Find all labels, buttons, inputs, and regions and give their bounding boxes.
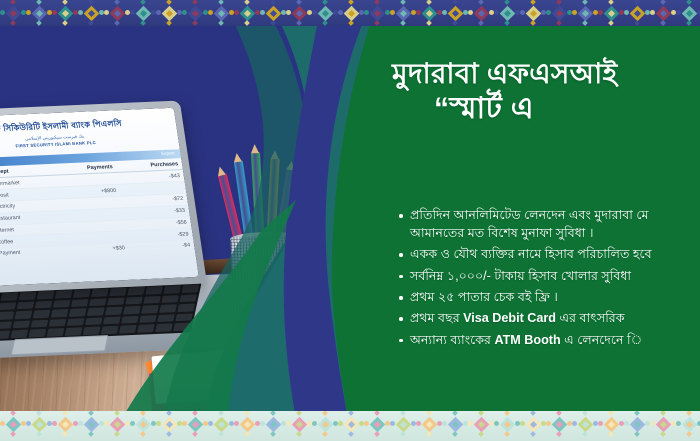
ornament-tile (208, 0, 234, 26)
ornament-tile (650, 0, 676, 26)
ornament-motif (650, 421, 655, 426)
promotional-banner: ফার্স্ট সিকিউরিটি ইসলামী ব্যাংক পিএলসি ب… (0, 0, 700, 441)
ornament-tile (26, 0, 52, 26)
ornament-motif (504, 20, 510, 26)
ornament-motif (234, 421, 239, 426)
ornament-motif (634, 431, 640, 437)
ornament-motif (10, 0, 16, 5)
ornament-motif (244, 411, 250, 416)
ornament-motif (208, 10, 213, 15)
ornament-motif (530, 431, 536, 437)
ornament-motif (286, 10, 291, 15)
ornament-motif (374, 411, 380, 416)
ornament-tile (468, 0, 494, 26)
ornament-tile (494, 0, 520, 26)
ornament-tile (416, 0, 442, 26)
ornament-motif (62, 431, 68, 437)
bullet-visa-debit-card: প্রথম বছর Visa Debit Card এর বাৎসরিক (410, 310, 700, 328)
ornament-tile (78, 411, 104, 441)
ornament-tile (624, 411, 650, 441)
ornament-motif (556, 411, 562, 416)
ornament-motif (192, 431, 198, 437)
ornament-motif (114, 20, 120, 26)
ornament-tile (442, 0, 468, 26)
ornament-motif (452, 20, 458, 26)
ornament-motif (546, 421, 551, 426)
bullet-minimum-deposit: সর্বনিম্ন ১,০০০/- টাকায় হিসাব খোলার সুব… (410, 268, 700, 286)
ornament-motif (598, 421, 603, 426)
ornament-motif (156, 10, 161, 15)
ornament-motif (504, 431, 510, 437)
ornament-motif (634, 411, 640, 416)
ornament-motif (244, 0, 250, 5)
ornament-tile (390, 411, 416, 441)
ornament-motif (62, 20, 68, 26)
ornament-motif (114, 431, 120, 437)
ornament-motif (140, 0, 146, 5)
ornament-motif (452, 431, 458, 437)
ornament-motif (218, 431, 224, 437)
ornament-motif (416, 421, 421, 426)
ornament-tile (130, 0, 156, 26)
ornament-tile (442, 411, 468, 441)
ornament-motif (182, 10, 187, 15)
ornament-band-top (0, 0, 700, 26)
ornament-motif (400, 0, 406, 5)
ornament-tile (676, 0, 700, 26)
ornament-motif (296, 0, 302, 5)
ornament-motif (322, 411, 328, 416)
ornament-motif (62, 411, 68, 416)
ornament-motif (296, 411, 302, 416)
ornament-motif (156, 421, 161, 426)
ornament-motif (78, 421, 83, 426)
ornament-tile (52, 0, 78, 26)
ornament-tile (416, 411, 442, 441)
ornament-motif (478, 20, 484, 26)
ornament-motif (582, 0, 588, 5)
ornament-motif (10, 411, 16, 416)
ornament-tile (260, 0, 286, 26)
ornament-motif (598, 10, 603, 15)
ornament-tile (182, 0, 208, 26)
ornament-motif (676, 421, 681, 426)
ornament-motif (556, 0, 562, 5)
ornament-motif (374, 20, 380, 26)
ornament-motif (348, 411, 354, 416)
ornament-motif (608, 0, 614, 5)
ornament-motif (416, 10, 421, 15)
ornament-tile (364, 0, 390, 26)
ornament-motif (26, 421, 31, 426)
ornament-motif (244, 20, 250, 26)
ornament-motif (10, 431, 16, 437)
ornament-motif (608, 431, 614, 437)
ornament-motif (218, 411, 224, 416)
ornament-motif (624, 10, 629, 15)
ornament-motif (530, 411, 536, 416)
ornament-motif (114, 0, 120, 5)
ornament-motif (26, 10, 31, 15)
ornament-motif (260, 421, 265, 426)
ornament-motif (582, 20, 588, 26)
ornament-motif (338, 421, 343, 426)
ornament-motif (36, 411, 42, 416)
ornament-motif (0, 10, 5, 15)
bullet-unlimited-transaction: প্রতিদিন আনলিমিটেড লেনদেন এবং মুদারাবা ম… (410, 207, 700, 243)
ornament-motif (270, 431, 276, 437)
ornament-motif (348, 431, 354, 437)
ornament-band-bottom (0, 411, 700, 441)
ornament-tile (520, 411, 546, 441)
ornament-tile (26, 411, 52, 441)
ornament-tile (598, 411, 624, 441)
ornament-tile (598, 0, 624, 26)
ornament-tile (390, 0, 416, 26)
headline-line-1: মুদারাবা এফএসআই (392, 56, 700, 91)
ornament-tile (468, 411, 494, 441)
ornament-motif (62, 0, 68, 5)
ornament-motif (338, 10, 343, 15)
ornament-tile (338, 0, 364, 26)
ornament-tile (650, 411, 676, 441)
ornament-motif (504, 0, 510, 5)
ornament-motif (390, 10, 395, 15)
ornament-motif (400, 431, 406, 437)
ornament-motif (478, 431, 484, 437)
ornament-motif (312, 421, 317, 426)
ornament-motif (52, 10, 57, 15)
ornament-tile (312, 0, 338, 26)
ornament-tile (286, 0, 312, 26)
ornament-motif (182, 421, 187, 426)
ornament-tile (156, 0, 182, 26)
bullet-other-bank-atm: অন্যান্য ব্যাংকের ATM Booth এ লেনদেনে ি (410, 332, 700, 350)
ornament-motif (452, 411, 458, 416)
ornament-motif (660, 20, 666, 26)
ornament-motif (374, 431, 380, 437)
ornament-motif (0, 421, 5, 426)
ornament-motif (686, 431, 692, 437)
ornament-tile (78, 0, 104, 26)
ornament-motif (88, 431, 94, 437)
ornament-motif (10, 20, 16, 26)
ornament-motif (634, 0, 640, 5)
ornament-motif (52, 421, 57, 426)
ornament-tile (286, 411, 312, 441)
ornament-motif (296, 431, 302, 437)
ornament-motif (130, 10, 135, 15)
ornament-tile (546, 0, 572, 26)
ornament-motif (114, 411, 120, 416)
ornament-motif (556, 431, 562, 437)
ornament-motif (286, 421, 291, 426)
ornament-motif (322, 431, 328, 437)
ornament-motif (608, 411, 614, 416)
ornament-motif (546, 10, 551, 15)
ornament-motif (468, 10, 473, 15)
ornament-tile (572, 411, 598, 441)
ornament-motif (166, 20, 172, 26)
ornament-motif (520, 421, 525, 426)
ornament-tile (130, 411, 156, 441)
ornament-motif (530, 0, 536, 5)
ornament-motif (364, 421, 369, 426)
ornament-motif (322, 0, 328, 5)
ornament-motif (572, 10, 577, 15)
ornament-tile (182, 411, 208, 441)
ornament-tile (572, 0, 598, 26)
ornament-motif (88, 0, 94, 5)
ornament-motif (166, 431, 172, 437)
ornament-tile (234, 0, 260, 26)
ornament-tile (312, 411, 338, 441)
ornament-motif (218, 20, 224, 26)
ornament-motif (234, 10, 239, 15)
ornament-motif (208, 421, 213, 426)
ornament-tile (104, 411, 130, 441)
ornament-motif (270, 20, 276, 26)
ornament-motif (494, 10, 499, 15)
ornament-motif (530, 20, 536, 26)
promo-content: মুদারাবা এফএসআই “স্মার্ট এ প্রতিদিন আনলি… (392, 0, 700, 441)
ornament-motif (452, 0, 458, 5)
ornament-motif (504, 411, 510, 416)
ornament-tile (208, 411, 234, 441)
ornament-tile (624, 0, 650, 26)
ornament-motif (192, 411, 198, 416)
ornament-tile (364, 411, 390, 441)
ornament-motif (468, 421, 473, 426)
ornament-motif (478, 0, 484, 5)
ornament-motif (660, 0, 666, 5)
ornament-motif (270, 411, 276, 416)
ornament-motif (374, 0, 380, 5)
ornament-tile (676, 411, 700, 441)
ornament-motif (364, 10, 369, 15)
ornament-motif (608, 20, 614, 26)
ornament-motif (426, 20, 432, 26)
ornament-motif (270, 0, 276, 5)
ornament-motif (686, 411, 692, 416)
headline-line-2: “স্মার্ট এ (434, 91, 700, 127)
ornament-motif (582, 411, 588, 416)
ornament-motif (192, 20, 198, 26)
ornament-motif (312, 10, 317, 15)
ornament-motif (426, 411, 432, 416)
ornament-motif (650, 10, 655, 15)
ornament-motif (624, 421, 629, 426)
feature-bullet-list: প্রতিদিন আনলিমিটেড লেনদেন এবং মুদারাবা ম… (394, 207, 700, 353)
ornament-motif (192, 0, 198, 5)
ornament-tile (234, 411, 260, 441)
ornament-motif (582, 431, 588, 437)
ornament-tile (0, 411, 26, 441)
ornament-motif (426, 0, 432, 5)
ornament-motif (88, 411, 94, 416)
ornament-tile (338, 411, 364, 441)
ornament-motif (660, 411, 666, 416)
ornament-tile (0, 0, 26, 26)
ornament-motif (572, 421, 577, 426)
ornament-motif (390, 421, 395, 426)
ornament-motif (494, 421, 499, 426)
ornament-motif (140, 431, 146, 437)
ornament-motif (520, 10, 525, 15)
ornament-motif (104, 10, 109, 15)
ornament-motif (166, 411, 172, 416)
ornament-tile (156, 411, 182, 441)
ornament-tile (546, 411, 572, 441)
ornament-motif (140, 411, 146, 416)
ornament-motif (676, 10, 681, 15)
ornament-motif (130, 421, 135, 426)
ornament-motif (348, 20, 354, 26)
ornament-motif (686, 20, 692, 26)
ornament-motif (260, 10, 265, 15)
ornament-motif (322, 20, 328, 26)
ornament-motif (36, 431, 42, 437)
ornament-motif (244, 431, 250, 437)
ornament-motif (36, 20, 42, 26)
ornament-motif (426, 431, 432, 437)
ornament-motif (36, 0, 42, 5)
ornament-motif (660, 431, 666, 437)
ornament-tile (260, 411, 286, 441)
ornament-motif (104, 421, 109, 426)
ornament-motif (296, 20, 302, 26)
ornament-motif (88, 20, 94, 26)
ornament-motif (686, 0, 692, 5)
bullet-single-joint-account: একক ও যৌথ ব্যক্তির নামে হিসাব পরিচালিত হ… (410, 246, 700, 264)
ornament-motif (78, 10, 83, 15)
ornament-tile (52, 411, 78, 441)
ornament-motif (556, 20, 562, 26)
ornament-motif (166, 0, 172, 5)
ornament-motif (634, 20, 640, 26)
ornament-motif (478, 411, 484, 416)
ornament-motif (140, 20, 146, 26)
ornament-tile (520, 0, 546, 26)
headline: মুদারাবা এফএসআই “স্মার্ট এ (392, 56, 700, 127)
ornament-motif (218, 0, 224, 5)
ornament-tile (104, 0, 130, 26)
ornament-motif (442, 10, 447, 15)
ornament-motif (400, 411, 406, 416)
ornament-motif (348, 0, 354, 5)
ornament-motif (400, 20, 406, 26)
ornament-motif (442, 421, 447, 426)
ornament-tile (494, 411, 520, 441)
bullet-free-cheque-book: প্রথম ২৫ পাতার চেক বই ফ্রি । (410, 289, 700, 307)
